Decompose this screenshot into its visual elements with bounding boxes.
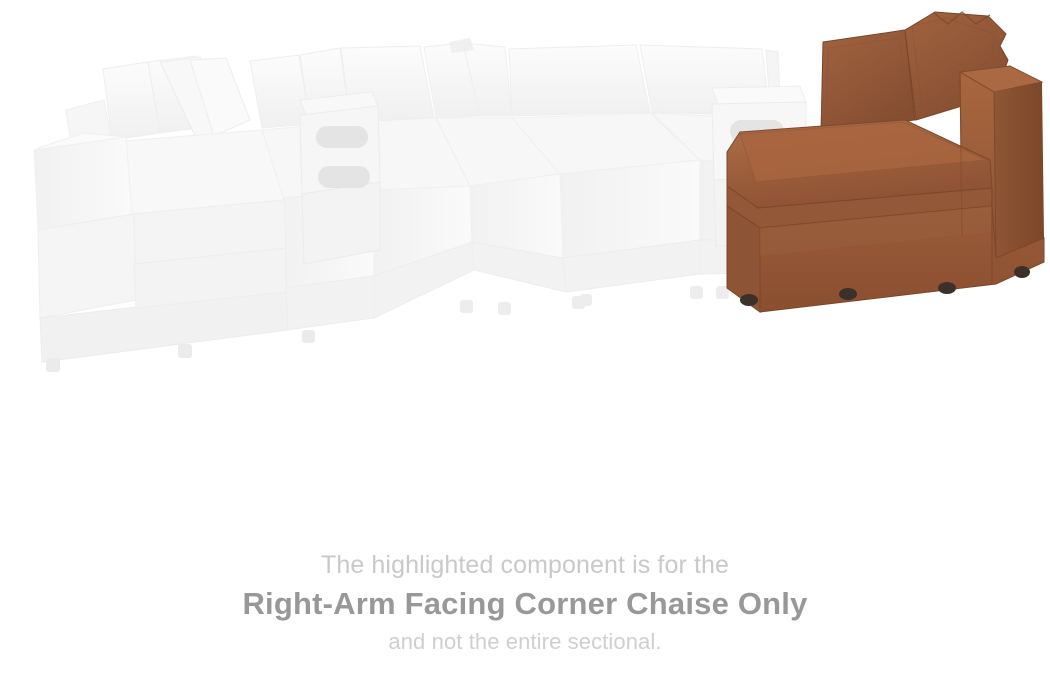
loveseat-body — [34, 130, 288, 362]
caption-line-3: and not the entire sectional. — [0, 626, 1050, 658]
caption-component-name: Right-Arm Facing Corner Chaise Only — [0, 582, 1050, 626]
highlight-caption: The highlighted component is for the Rig… — [0, 548, 1050, 658]
caption-line-1: The highlighted component is for the — [0, 548, 1050, 582]
backrest-wedge — [424, 38, 512, 118]
cupholder-left-bottom — [318, 166, 370, 188]
cupholder-left-top — [316, 126, 368, 148]
product-figure: The highlighted component is for the Rig… — [0, 0, 1050, 700]
console-left — [300, 92, 380, 264]
chaise-arm-outer — [994, 82, 1044, 258]
dimmed-sectional-group — [34, 38, 806, 372]
sectional-illustration — [0, 0, 1050, 530]
